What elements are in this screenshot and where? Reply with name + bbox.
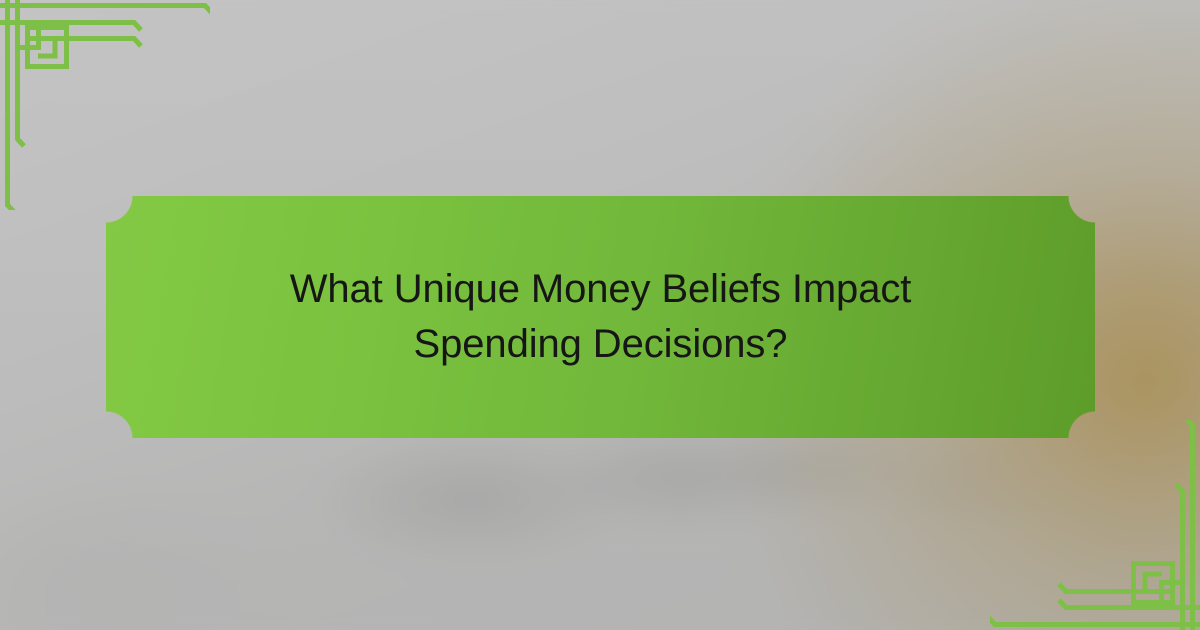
social-card: What Unique Money Beliefs Impact Spendin… xyxy=(0,0,1200,630)
page-title: What Unique Money Beliefs Impact Spendin… xyxy=(106,196,1095,438)
headline-banner: What Unique Money Beliefs Impact Spendin… xyxy=(106,196,1095,438)
